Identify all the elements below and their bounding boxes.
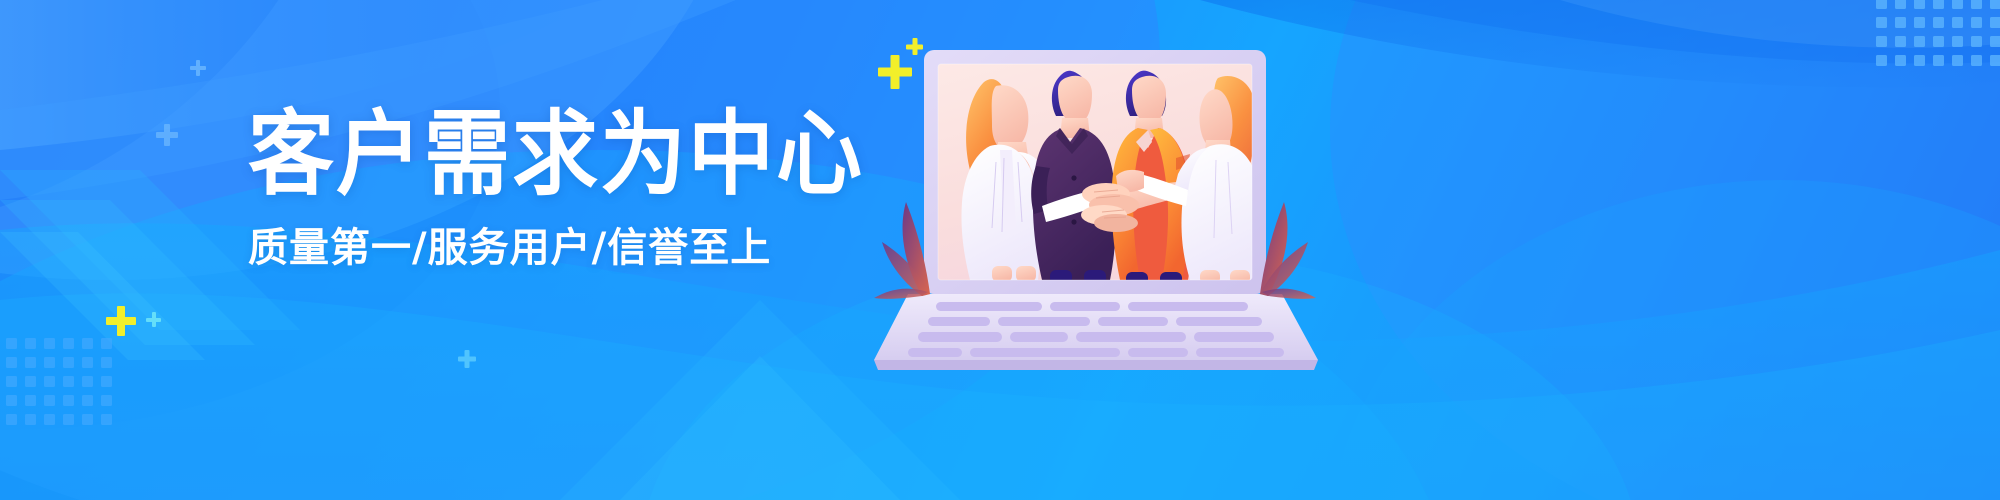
banner-text-block: 客户需求为中心 质量第一/服务用户/信誉至上 (248, 108, 868, 268)
plus-cyan-bottom-left-icon (146, 312, 161, 327)
plus-light-left-icon (156, 124, 178, 146)
plus-light-upper-left-icon (190, 60, 206, 76)
dot-grid-top-right (1876, 0, 2000, 84)
laptop-team-illustration (900, 42, 1330, 372)
background-blob-e (1330, 0, 2000, 500)
plus-yellow-bottom-icon (106, 306, 136, 336)
marketing-banner: 客户需求为中心 质量第一/服务用户/信誉至上 (0, 0, 2000, 500)
decor-leaves-left (874, 202, 930, 299)
banner-subheadline: 质量第一/服务用户/信誉至上 (248, 228, 868, 268)
banner-headline: 客户需求为中心 (248, 108, 868, 201)
decor-leaves-right (1260, 202, 1316, 299)
laptop-base-edge (874, 360, 1318, 370)
plus-cyan-lower-icon (458, 350, 476, 368)
background-blob-f (1330, 180, 2000, 500)
dot-grid-bottom-left (6, 338, 126, 448)
